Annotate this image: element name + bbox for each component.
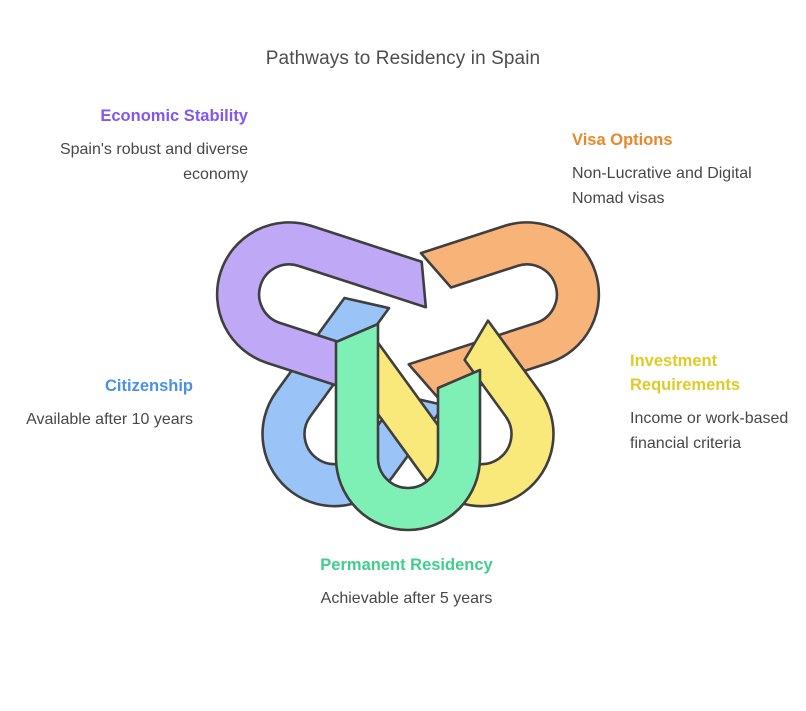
node-label-permanent: Permanent Residency Achievable after 5 y…	[290, 553, 523, 612]
node-label-citizenship: Citizenship Available after 10 years	[8, 374, 193, 433]
diagram-page: Pathways to Residency in Spain	[0, 0, 806, 711]
knot-svg	[203, 128, 613, 538]
node-heading-economic: Economic Stability	[30, 104, 248, 128]
node-heading-investment: Investment Requirements	[630, 349, 806, 397]
page-title: Pathways to Residency in Spain	[0, 48, 806, 70]
node-description-economic: Spain's robust and diverse economy	[30, 138, 248, 187]
node-heading-permanent: Permanent Residency	[290, 553, 523, 577]
node-description-permanent: Achievable after 5 years	[290, 587, 523, 612]
node-heading-citizenship: Citizenship	[8, 374, 193, 398]
node-label-visa: Visa Options Non-Lucrative and Digital N…	[572, 128, 787, 211]
node-label-investment: Investment Requirements Income or work-b…	[630, 349, 806, 456]
knot-arm-economic	[203, 204, 439, 405]
knot-diagram	[203, 128, 613, 538]
node-heading-visa: Visa Options	[572, 128, 787, 152]
node-description-investment: Income or work-based financial criteria	[630, 407, 806, 456]
node-description-citizenship: Available after 10 years	[8, 408, 193, 433]
node-label-economic: Economic Stability Spain's robust and di…	[30, 104, 248, 187]
node-description-visa: Non-Lucrative and Digital Nomad visas	[572, 162, 787, 211]
